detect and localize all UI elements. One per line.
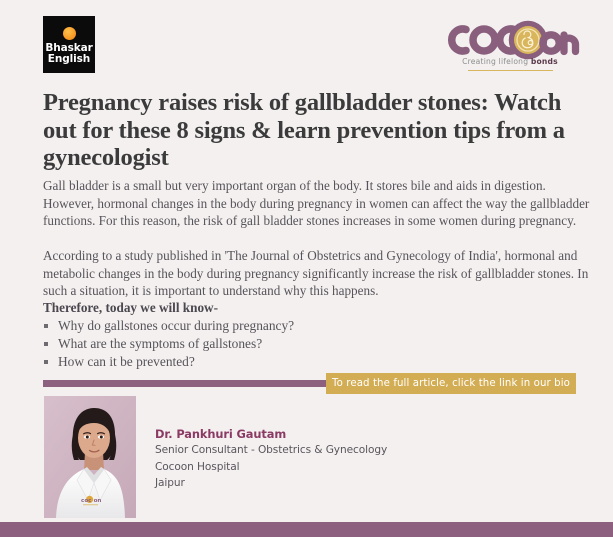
article-paragraph-2: According to a study published in 'The J…	[43, 247, 591, 300]
list-item: What are the symptoms of gallstones?	[43, 335, 473, 353]
svg-text:on: on	[94, 498, 102, 504]
list-item-label: Why do gallstones occur during pregnancy…	[58, 318, 294, 333]
sun-dot-icon	[63, 27, 76, 40]
cocoon-tagline-prefix: Creating lifelong	[462, 57, 531, 66]
article-headline: Pregnancy raises risk of gallbladder sto…	[43, 89, 589, 172]
bhaskar-logo-line2: English	[45, 54, 92, 66]
tagline-underline	[468, 70, 553, 71]
question-list: Why do gallstones occur during pregnancy…	[43, 317, 473, 371]
svg-text:coc: coc	[81, 498, 91, 504]
bullet-square-icon	[44, 342, 48, 346]
list-item-label: What are the symptoms of gallstones?	[58, 336, 262, 351]
list-item: How can it be prevented?	[43, 353, 473, 371]
cocoon-tagline-emphasis: bonds	[531, 57, 558, 66]
bullet-square-icon	[44, 360, 48, 364]
doctor-photo: coc on	[44, 396, 136, 518]
cocoon-wordmark	[440, 16, 580, 60]
doctor-title: Senior Consultant - Obstetrics & Gynecol…	[155, 442, 455, 459]
bullet-square-icon	[44, 324, 48, 328]
doctor-city: Jaipur	[155, 475, 455, 492]
bhaskar-english-logo: Bhaskar English	[43, 16, 95, 73]
cocoon-tagline: Creating lifelong bonds	[440, 57, 580, 66]
list-item-label: How can it be prevented?	[58, 354, 195, 369]
footer-accent-bar	[0, 522, 613, 537]
list-item: Why do gallstones occur during pregnancy…	[43, 317, 473, 335]
doctor-name: Dr. Pankhuri Gautam	[155, 426, 455, 442]
cta-divider-rule	[43, 380, 326, 387]
article-paragraph-1: Gall bladder is a small but very importa…	[43, 177, 591, 230]
lead-in-text: Therefore, today we will know-	[43, 300, 218, 316]
doctor-hospital: Cocoon Hospital	[155, 459, 455, 476]
cocoon-brand-logo: Creating lifelong bonds	[440, 16, 580, 78]
cta-banner-label: To read the full article, click the link…	[332, 378, 570, 389]
page-header: Bhaskar English	[0, 0, 613, 84]
cta-banner[interactable]: To read the full article, click the link…	[326, 373, 576, 394]
doctor-credit: Dr. Pankhuri Gautam Senior Consultant - …	[155, 426, 455, 492]
